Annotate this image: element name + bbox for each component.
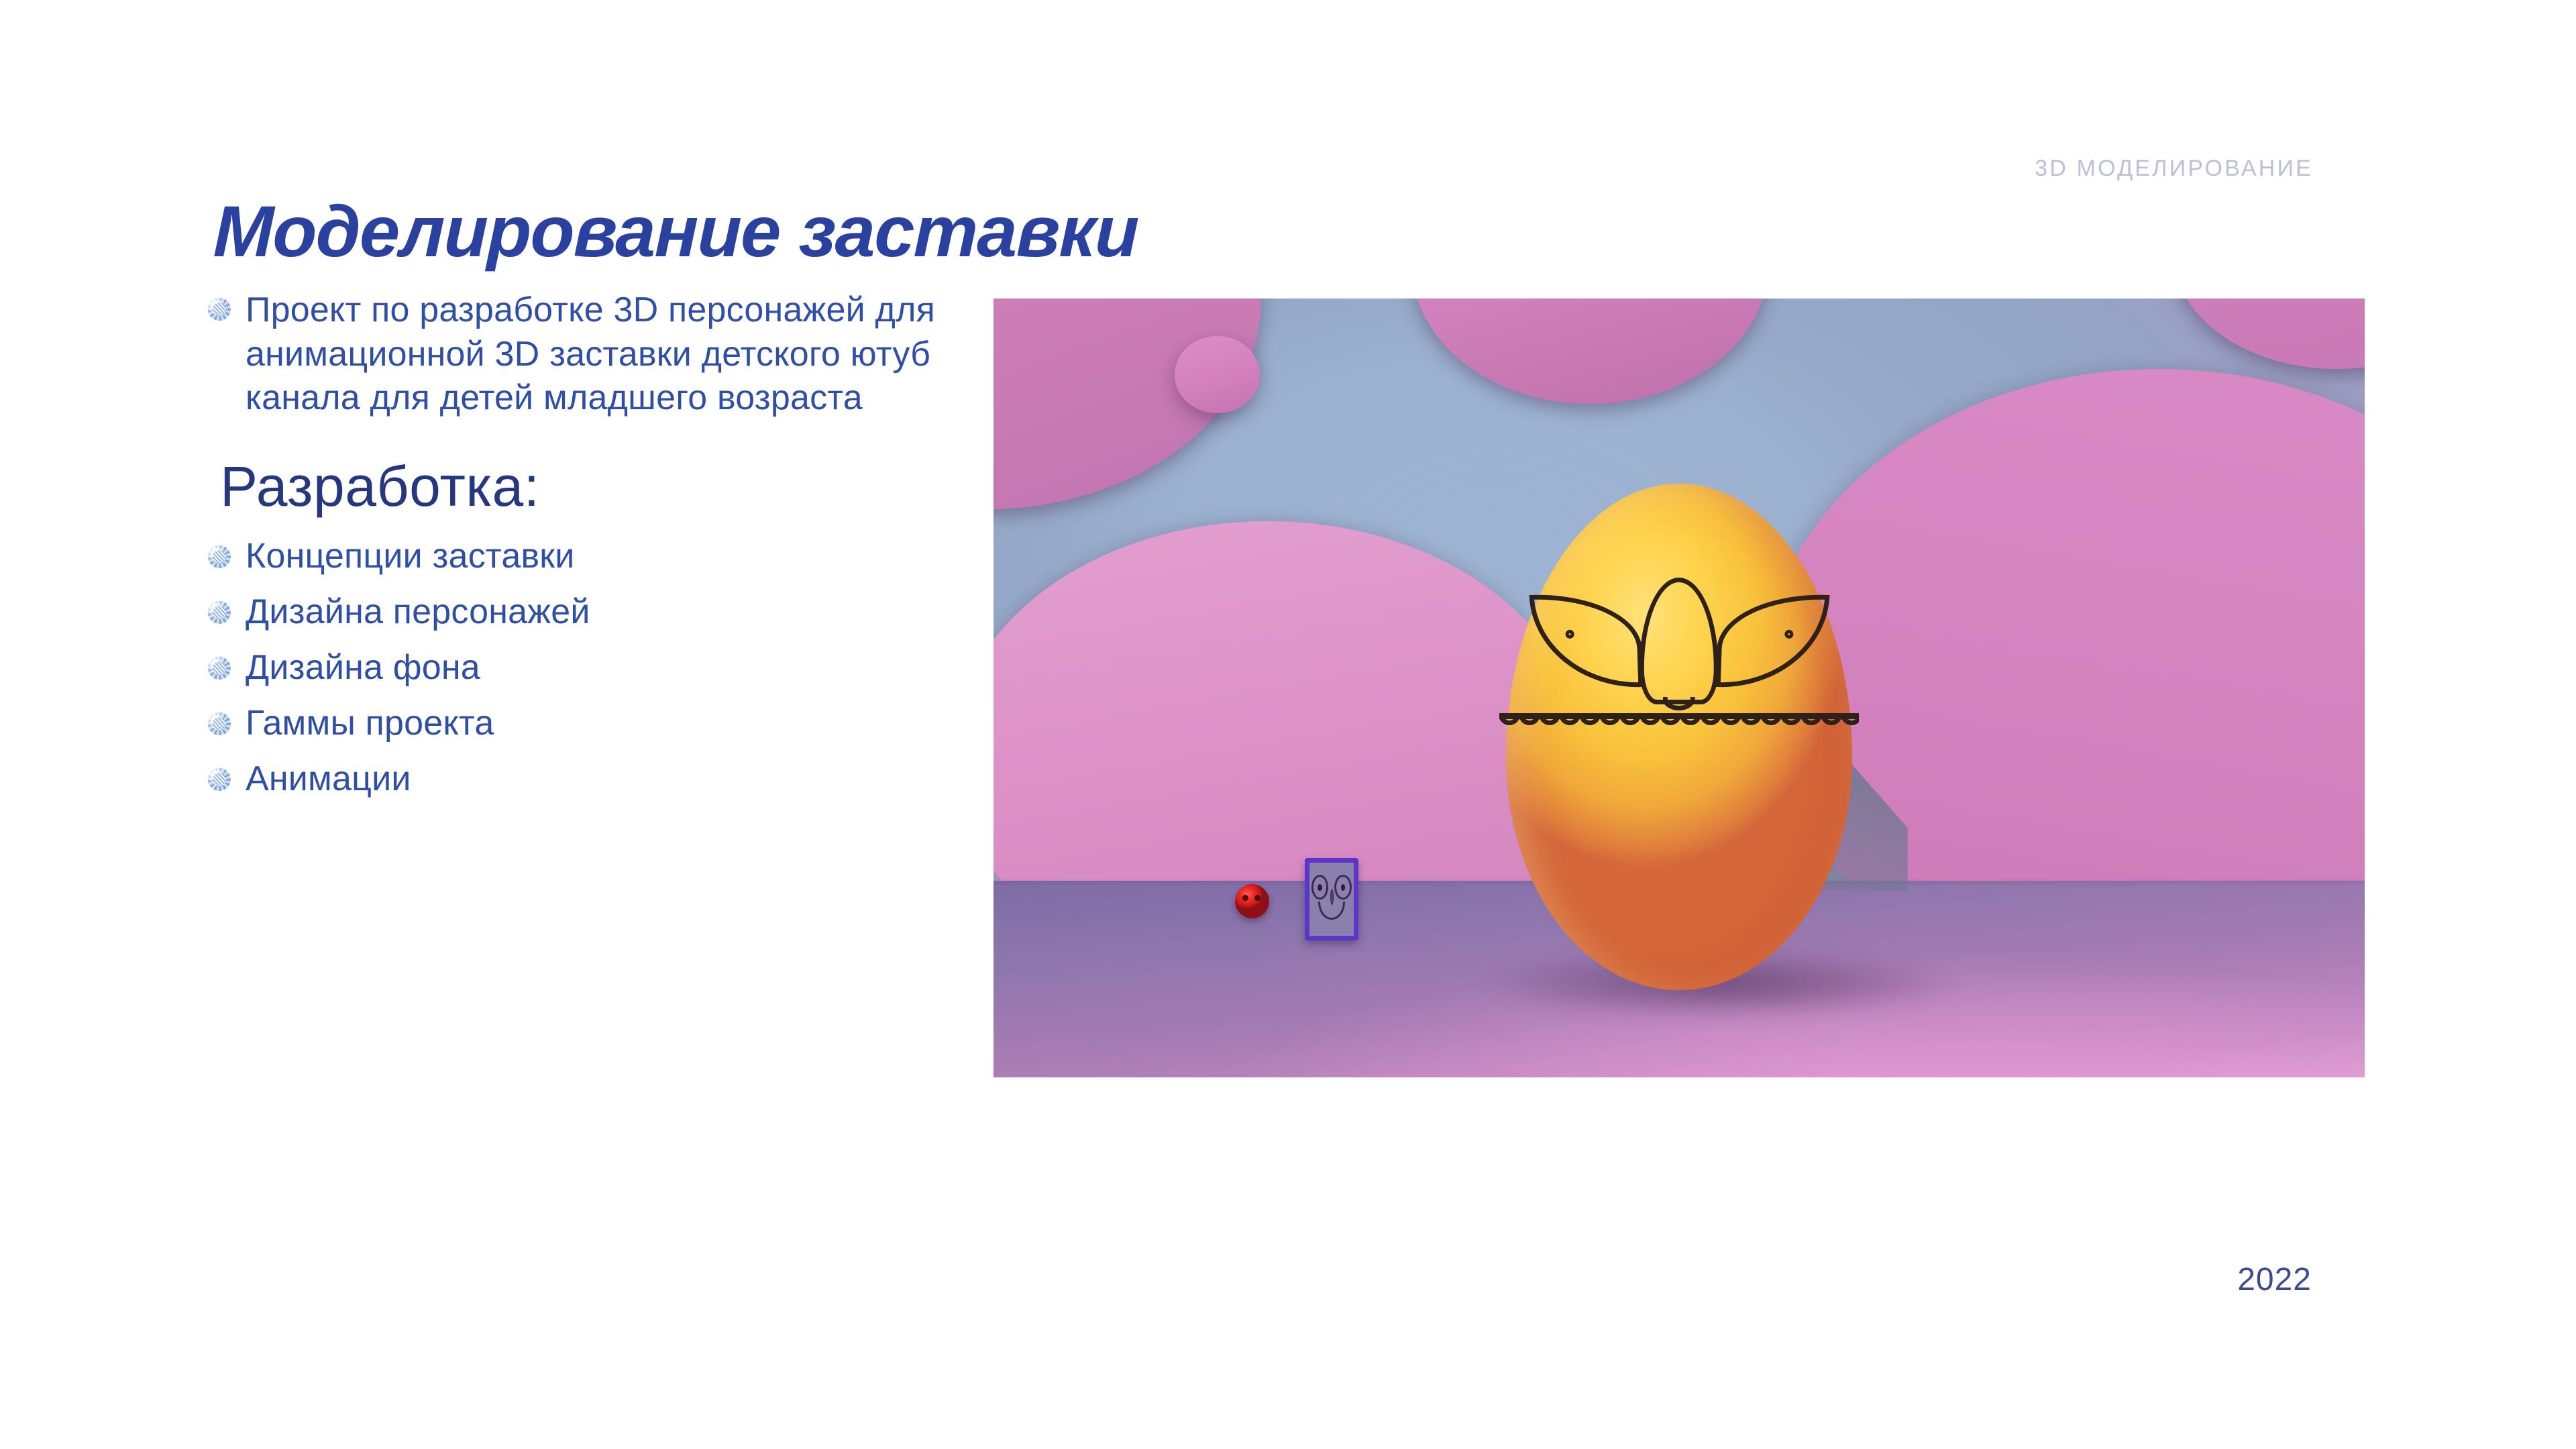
cube-face bbox=[1309, 863, 1354, 936]
bullet-sphere-icon bbox=[208, 768, 231, 791]
development-bullet-text: Анимации bbox=[246, 760, 411, 798]
bullet-sphere-icon bbox=[208, 601, 231, 624]
development-bullet-text: Концепции заставки bbox=[246, 537, 574, 576]
egg-beak-lip-icon bbox=[1663, 697, 1695, 710]
render-image-panel bbox=[994, 299, 2365, 1077]
development-bullet-text: Дизайна персонажей bbox=[246, 593, 590, 631]
egg-eye-left-icon bbox=[1529, 591, 1643, 691]
egg-beak-icon bbox=[1640, 578, 1719, 704]
egg-eye-right-icon bbox=[1715, 591, 1829, 691]
development-bullet-text: Дизайна фона bbox=[246, 649, 480, 687]
egg-pupil-right-icon bbox=[1784, 629, 1792, 638]
intro-bullet-text: Проект по разработке 3D персонажей для а… bbox=[246, 288, 936, 421]
cube-eye-right-icon bbox=[1334, 875, 1352, 900]
list-item: Дизайна персонажей bbox=[208, 593, 953, 631]
cube-eye-left-icon bbox=[1311, 875, 1329, 900]
bullet-sphere-icon bbox=[208, 712, 231, 735]
cube-smile-icon bbox=[1318, 902, 1344, 919]
development-bullet-list: Концепции заставки Дизайна персонажей Ди… bbox=[208, 537, 953, 799]
development-bullet-text: Гаммы проекта bbox=[246, 704, 494, 743]
list-item: Проект по разработке 3D персонажей для а… bbox=[208, 288, 953, 421]
list-item: Дизайна фона bbox=[208, 649, 953, 687]
list-item: Концепции заставки bbox=[208, 537, 953, 576]
section-kicker: 3D МОДЕЛИРОВАНИЕ bbox=[2035, 156, 2313, 182]
egg-pupil-left-icon bbox=[1565, 629, 1574, 638]
scene-disc-top-right bbox=[2173, 299, 2365, 369]
egg-face bbox=[1506, 484, 1851, 990]
ball-eye-left-icon bbox=[1242, 895, 1248, 901]
bullet-sphere-icon bbox=[208, 298, 231, 321]
development-heading: Разработка: bbox=[220, 458, 953, 515]
render-scene bbox=[994, 299, 2365, 1077]
year-label: 2022 bbox=[2237, 1261, 2312, 1298]
intro-bullet-list: Проект по разработке 3D персонажей для а… bbox=[208, 288, 953, 421]
content-column: Проект по разработке 3D персонажей для а… bbox=[208, 288, 953, 816]
scene-disc-small bbox=[1175, 336, 1260, 413]
ball-eye-right-icon bbox=[1254, 895, 1260, 901]
bullet-sphere-icon bbox=[208, 657, 231, 680]
egg-mouth-scallop-band bbox=[1499, 714, 1859, 732]
list-item: Анимации bbox=[208, 760, 953, 798]
list-item: Гаммы проекта bbox=[208, 704, 953, 743]
purple-cube-character bbox=[1305, 858, 1358, 941]
page-title: Моделирование заставки bbox=[213, 193, 1139, 269]
red-ball-character bbox=[1235, 884, 1269, 918]
bullet-sphere-icon bbox=[208, 545, 231, 568]
slide: Моделирование заставки 3D МОДЕЛИРОВАНИЕ … bbox=[0, 0, 2576, 1449]
yellow-egg-character bbox=[1506, 484, 1851, 990]
